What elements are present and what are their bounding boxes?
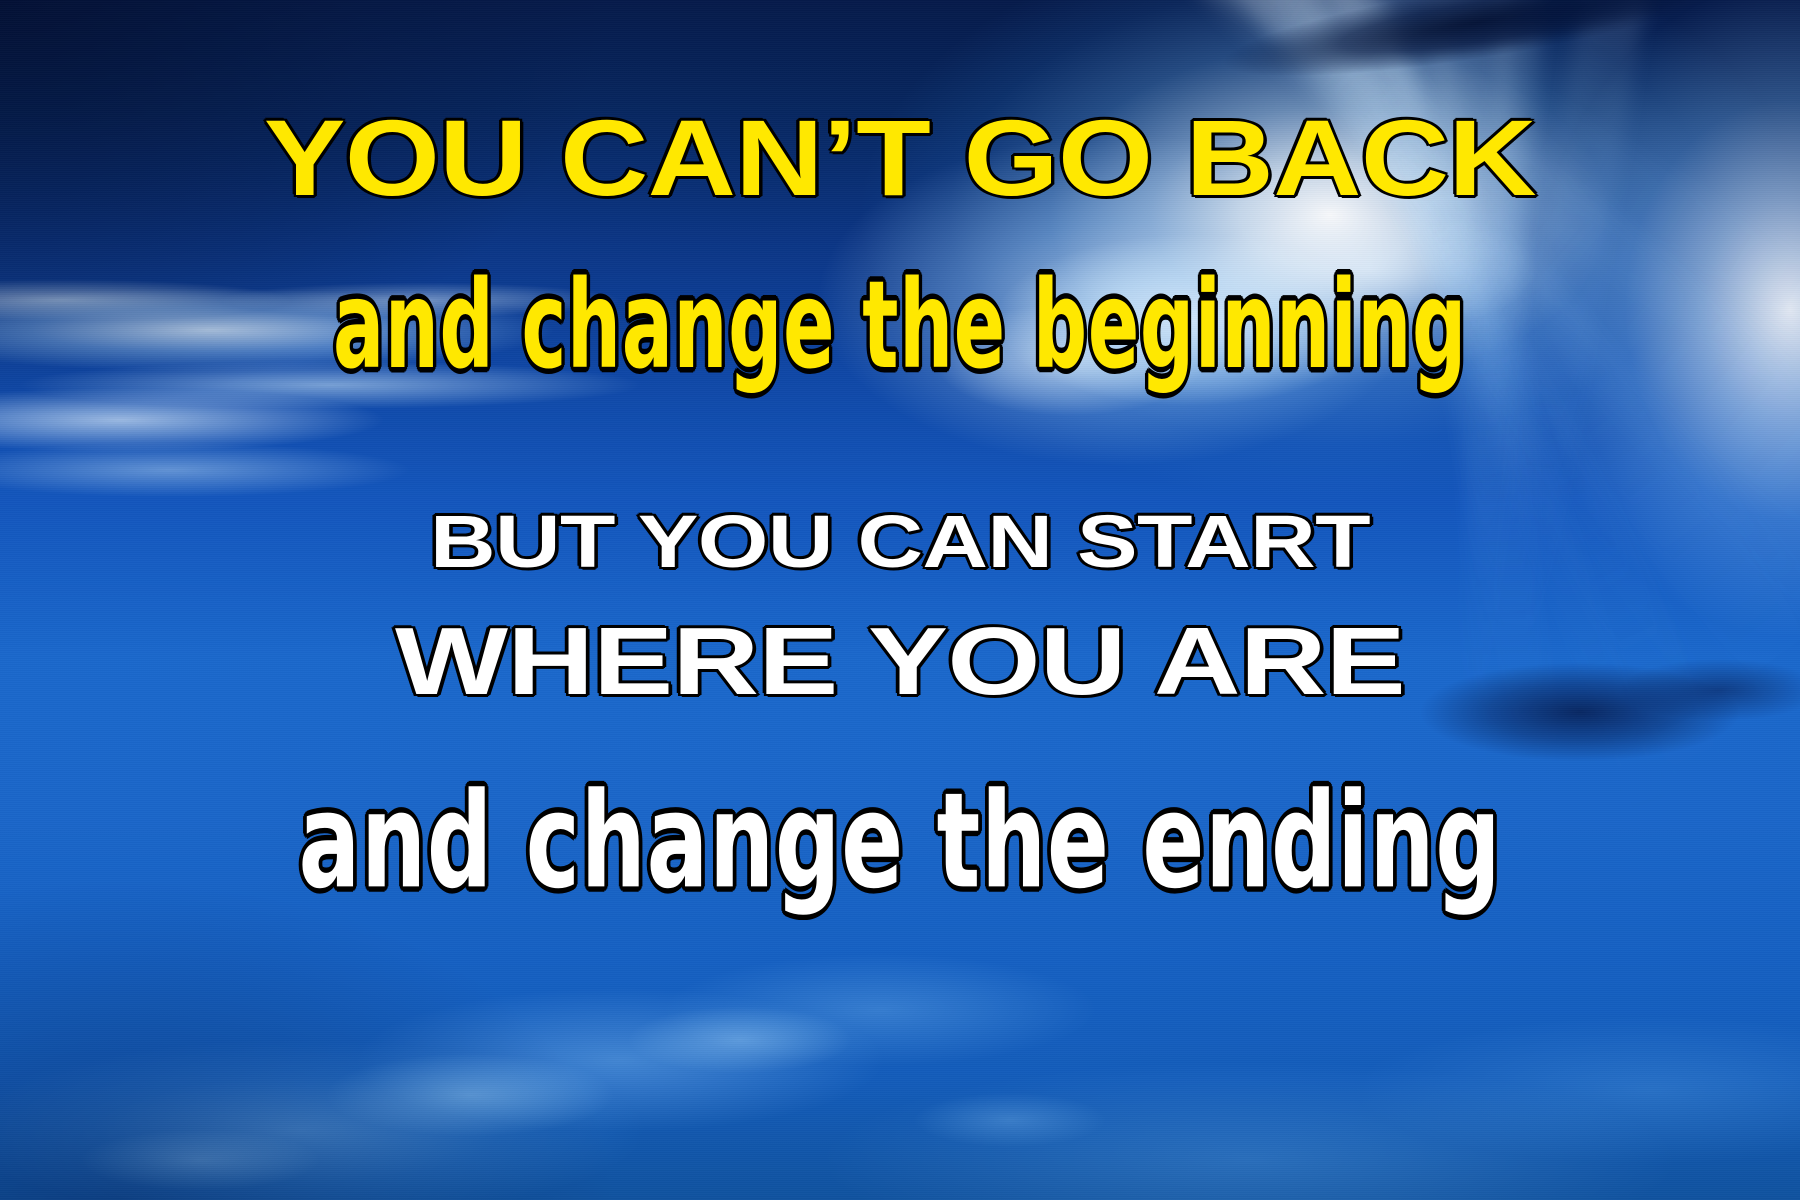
quote-line-3: BUT YOU CAN START	[0, 505, 1800, 579]
quote-line-5: and change the ending	[225, 775, 1575, 907]
quote-text-block: YOU CAN’T GO BACK and change the beginni…	[0, 0, 1800, 1200]
quote-poster: YOU CAN’T GO BACK and change the beginni…	[0, 0, 1800, 1200]
quote-line-2: and change the beginning	[291, 266, 1509, 387]
quote-line-1: YOU CAN’T GO BACK	[0, 104, 1800, 212]
quote-line-4: WHERE YOU ARE	[0, 614, 1800, 710]
